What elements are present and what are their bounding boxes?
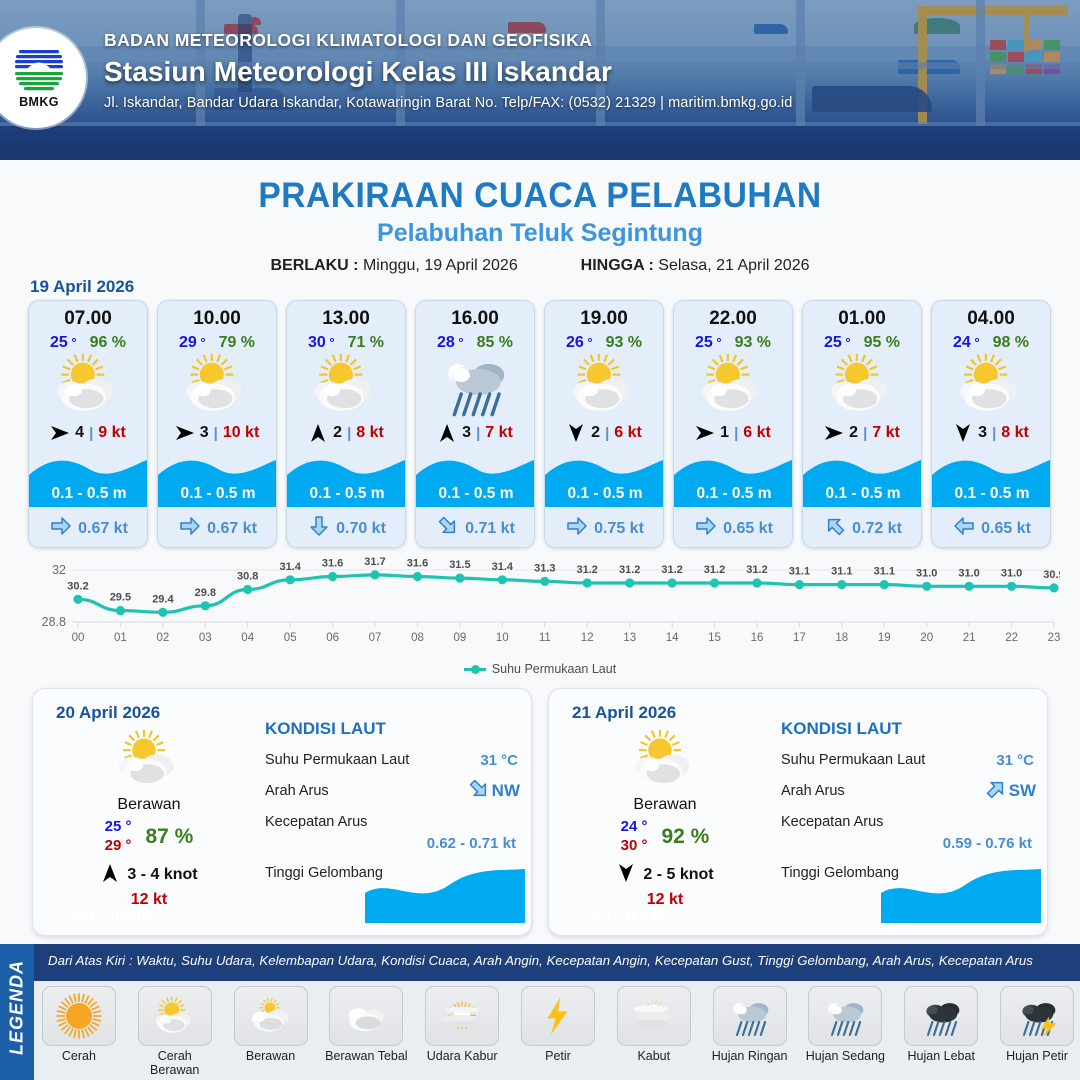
svg-text:11: 11 [539, 632, 551, 644]
current-direction-value-wrap: SW [985, 779, 1036, 803]
svg-text:00: 00 [72, 632, 85, 644]
card-current-row: 0.70 kt [287, 516, 406, 541]
card-wind-row: 3 | 7 kt [416, 421, 534, 445]
bmkg-logo-mark [13, 48, 65, 94]
svg-text:31.7: 31.7 [364, 556, 385, 568]
svg-text:16: 16 [751, 632, 764, 644]
panel-summary: Berawan 24 ° 30 ° 92 % 2 - 5 knot 12 kt [565, 729, 765, 909]
station-address: Jl. Iskandar, Bandar Udara Iskandar, Kot… [104, 95, 792, 111]
separator: | [734, 425, 738, 442]
panel-gust: 12 kt [565, 891, 765, 909]
daily-panel[interactable]: 20 April 2026 Berawan 25 ° 29 ° 87 % 3 -… [32, 688, 532, 936]
card-current-row: 0.71 kt [416, 516, 535, 541]
card-wind-row: 3 | 8 kt [932, 421, 1050, 445]
card-temperature: 30 ° [308, 334, 335, 352]
current-direction-label: Arah Arus [781, 783, 845, 799]
separator: | [476, 425, 480, 442]
wind-direction-icon [437, 423, 457, 443]
legend-item-icon [42, 986, 116, 1046]
panel-sea-conditions: KONDISI LAUT Suhu Permukaan Laut 31 °C A… [265, 719, 520, 883]
card-wind-speed: 3 [462, 424, 471, 442]
card-wind-speed: 4 [75, 424, 84, 442]
svg-text:03: 03 [199, 632, 212, 644]
svg-text:21: 21 [963, 632, 976, 644]
chart-legend-marker [464, 668, 486, 671]
svg-text:31.1: 31.1 [874, 566, 895, 578]
card-weather-icon [416, 354, 534, 416]
forecast-card-row: 07.00 25 ° 96 % 4 | 9 kt 0.1 - 0.5 m 0.6… [28, 300, 1051, 548]
current-direction-icon [695, 516, 717, 541]
svg-text:23: 23 [1048, 632, 1060, 644]
card-current-speed: 0.67 kt [207, 520, 257, 538]
wind-direction-icon [308, 423, 328, 443]
legend-item-label: Petir [515, 1049, 601, 1063]
current-direction-icon [308, 516, 330, 541]
card-weather-icon [158, 354, 276, 416]
card-current-speed: 0.65 kt [981, 520, 1031, 538]
legend-item[interactable]: Hujan Petir [994, 986, 1080, 1077]
current-direction-value: NW [492, 781, 520, 801]
card-temp-hum-row: 25 ° 96 % [29, 334, 147, 352]
card-wind-row: 3 | 10 kt [158, 421, 276, 445]
forecast-card[interactable]: 04.00 24 ° 98 % 3 | 8 kt 0.1 - 0.5 m 0.6… [931, 300, 1051, 548]
card-temp-hum-row: 26 ° 93 % [545, 334, 663, 352]
svg-text:28.8: 28.8 [42, 615, 66, 629]
svg-text:31.6: 31.6 [407, 558, 428, 570]
legend-item-icon [904, 986, 978, 1046]
legend-item-icon [329, 986, 403, 1046]
page-header: BMKG BADAN METEOROLOGI KLIMATOLOGI DAN G… [0, 0, 1080, 160]
card-temperature: 25 ° [695, 334, 722, 352]
card-gust: 9 kt [98, 424, 126, 442]
current-speed-label: Kecepatan Arus [781, 814, 883, 830]
card-humidity: 85 % [477, 334, 513, 352]
legend-item-icon [713, 986, 787, 1046]
forecast-card[interactable]: 07.00 25 ° 96 % 4 | 9 kt 0.1 - 0.5 m 0.6… [28, 300, 148, 548]
svg-text:18: 18 [835, 632, 848, 644]
svg-text:31.4: 31.4 [279, 561, 301, 573]
panel-gust: 12 kt [49, 891, 249, 909]
legend-item-icon [617, 986, 691, 1046]
legend-item[interactable]: Cerah [36, 986, 122, 1077]
svg-text:30.2: 30.2 [67, 580, 88, 592]
svg-text:31.6: 31.6 [322, 558, 343, 570]
valid-to-value: Selasa, 21 April 2026 [658, 257, 809, 274]
card-temperature: 28 ° [437, 334, 464, 352]
legend-side-tab: LEGENDA [0, 944, 34, 1080]
forecast-card[interactable]: 16.00 28 ° 85 % 3 | 7 kt 0.1 - 0.5 m 0.7… [415, 300, 535, 548]
legend-item-icon [138, 986, 212, 1046]
legend-item-icon [808, 986, 882, 1046]
card-current-speed: 0.75 kt [594, 520, 644, 538]
svg-text:29.5: 29.5 [110, 592, 131, 604]
card-current-row: 0.67 kt [158, 516, 277, 541]
forecast-card[interactable]: 22.00 25 ° 93 % 1 | 6 kt 0.1 - 0.5 m 0.6… [673, 300, 793, 548]
panel-condition: Berawan [565, 796, 765, 814]
card-wind-speed: 2 [849, 424, 858, 442]
card-wind-speed: 3 [978, 424, 987, 442]
card-current-row: 0.67 kt [29, 516, 148, 541]
svg-text:15: 15 [708, 632, 721, 644]
card-wind-speed: 1 [720, 424, 729, 442]
panel-temp-hum: 25 ° 29 ° 87 % [49, 818, 249, 856]
card-gust: 7 kt [872, 424, 900, 442]
card-weather-icon [674, 354, 792, 416]
card-weather-icon [803, 354, 921, 416]
card-current-speed: 0.65 kt [723, 520, 773, 538]
card-time: 19.00 [545, 308, 663, 330]
legend-note: Dari Atas Kiri : Waktu, Suhu Udara, Kele… [48, 953, 1033, 968]
separator: | [89, 425, 93, 442]
card-temperature: 25 ° [50, 334, 77, 352]
card-temperature: 24 ° [953, 334, 980, 352]
card-gust: 7 kt [485, 424, 513, 442]
panel-condition: Berawan [49, 796, 249, 814]
card-temp-hum-row: 24 ° 98 % [932, 334, 1050, 352]
card-wind-row: 2 | 8 kt [287, 421, 405, 445]
current-direction-row: Arah Arus NW [265, 783, 520, 801]
card-current-speed: 0.67 kt [78, 520, 128, 538]
card-wave-height: 0.1 - 0.5 m [29, 485, 148, 503]
legend-item-label: Cerah Berawan [132, 1049, 218, 1077]
card-weather-icon [287, 354, 405, 416]
svg-text:10: 10 [496, 632, 509, 644]
current-speed-label: Kecepatan Arus [265, 814, 367, 830]
card-time: 04.00 [932, 308, 1050, 330]
current-direction-label: Arah Arus [265, 783, 329, 799]
forecast-card[interactable]: 01.00 25 ° 95 % 2 | 7 kt 0.1 - 0.5 m 0.7… [802, 300, 922, 548]
svg-text:31.2: 31.2 [661, 564, 682, 576]
panel-wind-range: 2 - 5 knot [643, 866, 713, 884]
card-weather-icon [29, 354, 147, 416]
legend-item[interactable]: Berawan [228, 986, 314, 1077]
current-direction-icon [179, 516, 201, 541]
legend-item[interactable]: Kabut [611, 986, 697, 1077]
panel-humidity: 92 % [661, 825, 709, 849]
current-direction-icon [437, 516, 459, 541]
panel-humidity: 87 % [145, 825, 193, 849]
panel-temp-max: 30 ° [621, 837, 648, 856]
card-gust: 8 kt [1001, 424, 1029, 442]
card-temp-hum-row: 25 ° 93 % [674, 334, 792, 352]
svg-text:31.4: 31.4 [492, 561, 514, 573]
wind-direction-icon [175, 423, 195, 443]
card-gust: 10 kt [223, 424, 259, 442]
sst-chart-svg: 32 28.8 00 01 02 03 04 05 06 07 08 09 10… [20, 556, 1060, 656]
svg-text:32: 32 [52, 563, 66, 577]
card-humidity: 93 % [735, 334, 771, 352]
panel-wave-graphic [881, 867, 1041, 923]
legend-item[interactable]: Berawan Tebal [323, 986, 409, 1077]
svg-text:17: 17 [793, 632, 806, 644]
card-wind-row: 1 | 6 kt [674, 421, 792, 445]
current-direction-icon [985, 779, 1007, 803]
forecast-card[interactable]: 13.00 30 ° 71 % 2 | 8 kt 0.1 - 0.5 m 0.7… [286, 300, 406, 548]
svg-text:02: 02 [157, 632, 170, 644]
sea-conditions-title: KONDISI LAUT [265, 719, 520, 739]
panel-temp-col: 25 ° 29 ° [105, 818, 132, 856]
svg-text:08: 08 [411, 632, 424, 644]
card-humidity: 98 % [993, 334, 1029, 352]
current-direction-icon [824, 516, 846, 541]
svg-text:31.0: 31.0 [1001, 567, 1022, 579]
svg-text:22: 22 [1005, 632, 1018, 644]
card-wind-row: 2 | 6 kt [545, 421, 663, 445]
current-speed-row: Kecepatan Arus [265, 814, 520, 832]
panel-wind-row: 3 - 4 knot [49, 863, 249, 888]
current-direction-icon [50, 516, 72, 541]
card-current-row: 0.65 kt [932, 516, 1051, 541]
legend-item-label: Hujan Lebat [898, 1049, 984, 1063]
legend-item[interactable]: Cerah Berawan [132, 986, 218, 1077]
legend-item-label: Udara Kabur [419, 1049, 505, 1063]
current-direction-value-wrap: NW [468, 779, 520, 803]
card-temp-hum-row: 28 ° 85 % [416, 334, 534, 352]
current-speed-value: 0.59 - 0.76 kt [781, 835, 1036, 852]
card-wind-row: 2 | 7 kt [803, 421, 921, 445]
current-speed-row: Kecepatan Arus [781, 814, 1036, 832]
legend-item-label: Cerah [36, 1049, 122, 1063]
svg-text:05: 05 [284, 632, 297, 644]
card-time: 01.00 [803, 308, 921, 330]
legend-item-label: Berawan Tebal [323, 1049, 409, 1063]
legend-item-icon [425, 986, 499, 1046]
forecast-card[interactable]: 19.00 26 ° 93 % 2 | 6 kt 0.1 - 0.5 m 0.7… [544, 300, 664, 548]
separator: | [214, 425, 218, 442]
svg-text:31.1: 31.1 [831, 566, 852, 578]
card-humidity: 93 % [606, 334, 642, 352]
legend-item-icon [1000, 986, 1074, 1046]
card-current-speed: 0.72 kt [852, 520, 902, 538]
card-gust: 6 kt [614, 424, 642, 442]
forecast-card[interactable]: 10.00 29 ° 79 % 3 | 10 kt 0.1 - 0.5 m 0.… [157, 300, 277, 548]
separator: | [347, 425, 351, 442]
svg-text:04: 04 [241, 632, 254, 644]
svg-text:20: 20 [920, 632, 933, 644]
current-direction-row: Arah Arus SW [781, 783, 1036, 801]
legend-item[interactable]: Hujan Lebat [898, 986, 984, 1077]
daily-panel[interactable]: 21 April 2026 Berawan 24 ° 30 ° 92 % 2 -… [548, 688, 1048, 936]
title-block: PRAKIRAAN CUACA PELABUHAN Pelabuhan Telu… [0, 176, 1080, 275]
card-weather-icon [545, 354, 663, 416]
legend-item-label: Berawan [228, 1049, 314, 1063]
current-speed-value: 0.62 - 0.71 kt [265, 835, 520, 852]
sst-label: Suhu Permukaan Laut [781, 752, 925, 768]
wind-direction-icon [100, 863, 120, 888]
sst-row: Suhu Permukaan Laut 31 °C [265, 752, 520, 770]
panel-wave-value: 0.1 - 0.5 m [549, 908, 709, 926]
svg-text:13: 13 [623, 632, 636, 644]
card-gust: 6 kt [743, 424, 771, 442]
legend-item[interactable]: Hujan Sedang [803, 986, 889, 1077]
card-temperature: 25 ° [824, 334, 851, 352]
card-wave-height: 0.1 - 0.5 m [545, 485, 664, 503]
validity-line: BERLAKU : Minggu, 19 April 2026 HINGGA :… [0, 257, 1080, 275]
legend-item-icon [521, 986, 595, 1046]
panel-wave-graphic [365, 867, 525, 923]
sst-value: 31 °C [480, 752, 518, 769]
card-temp-hum-row: 30 ° 71 % [287, 334, 405, 352]
svg-text:30.8: 30.8 [237, 571, 258, 583]
card-wave-height: 0.1 - 0.5 m [287, 485, 406, 503]
svg-text:31.5: 31.5 [449, 559, 470, 571]
svg-text:31.0: 31.0 [916, 567, 937, 579]
current-direction-icon [566, 516, 588, 541]
svg-text:31.2: 31.2 [576, 564, 597, 576]
card-current-row: 0.65 kt [674, 516, 793, 541]
card-temp-hum-row: 25 ° 95 % [803, 334, 921, 352]
card-wind-speed: 3 [200, 424, 209, 442]
card-wave-height: 0.1 - 0.5 m [803, 485, 922, 503]
svg-text:30.9: 30.9 [1043, 569, 1060, 581]
card-wind-speed: 2 [333, 424, 342, 442]
wind-direction-icon [695, 423, 715, 443]
card-wave-height: 0.1 - 0.5 m [158, 485, 277, 503]
panel-weather-icon [49, 729, 249, 791]
card-current-row: 0.72 kt [803, 516, 922, 541]
panel-sea-conditions: KONDISI LAUT Suhu Permukaan Laut 31 °C A… [781, 719, 1036, 883]
card-weather-icon [932, 354, 1050, 416]
card-wave-height: 0.1 - 0.5 m [932, 485, 1051, 503]
legend-item[interactable]: Petir [515, 986, 601, 1077]
page-title: PRAKIRAAN CUACA PELABUHAN [22, 176, 1059, 216]
card-time: 10.00 [158, 308, 276, 330]
panel-wind-range: 3 - 4 knot [127, 866, 197, 884]
card-current-speed: 0.71 kt [465, 520, 515, 538]
card-wave-height: 0.1 - 0.5 m [416, 485, 535, 503]
sst-row: Suhu Permukaan Laut 31 °C [781, 752, 1036, 770]
panel-date: 20 April 2026 [56, 703, 160, 723]
forecast-date-label: 19 April 2026 [30, 277, 134, 297]
legend-item-label: Hujan Petir [994, 1049, 1080, 1063]
panel-temp-hum: 24 ° 30 ° 92 % [565, 818, 765, 856]
panel-temp-max: 29 ° [105, 837, 132, 856]
panel-date: 21 April 2026 [572, 703, 676, 723]
legend-item-row: Cerah Cerah Berawan Berawan Berawan Teba… [36, 986, 1080, 1077]
card-temp-hum-row: 29 ° 79 % [158, 334, 276, 352]
header-text-block: BADAN METEOROLOGI KLIMATOLOGI DAN GEOFIS… [104, 30, 792, 111]
svg-text:19: 19 [878, 632, 891, 644]
card-time: 16.00 [416, 308, 534, 330]
card-humidity: 95 % [864, 334, 900, 352]
current-direction-icon [468, 779, 490, 803]
separator: | [992, 425, 996, 442]
svg-text:31.2: 31.2 [746, 564, 767, 576]
daily-panel-row: 20 April 2026 Berawan 25 ° 29 ° 87 % 3 -… [32, 688, 1048, 936]
panel-temp-min: 24 ° [621, 818, 648, 837]
legend-item-label: Hujan Ringan [707, 1049, 793, 1063]
card-temperature: 26 ° [566, 334, 593, 352]
panel-wind-row: 2 - 5 knot [565, 863, 765, 888]
panel-temp-col: 24 ° 30 ° [621, 818, 648, 856]
panel-summary: Berawan 25 ° 29 ° 87 % 3 - 4 knot 12 kt [49, 729, 249, 909]
chart-legend-label: Suhu Permukaan Laut [492, 662, 616, 676]
card-time: 22.00 [674, 308, 792, 330]
panel-wave-value: 0.1 - 0.5 m [33, 908, 193, 926]
card-gust: 8 kt [356, 424, 384, 442]
card-current-row: 0.75 kt [545, 516, 664, 541]
svg-text:31.2: 31.2 [619, 564, 640, 576]
wind-direction-icon [616, 863, 636, 888]
station-name: Stasiun Meteorologi Kelas III Iskandar [104, 56, 792, 88]
svg-text:14: 14 [666, 632, 679, 644]
page-subtitle: Pelabuhan Teluk Segintung [0, 219, 1080, 248]
svg-text:09: 09 [454, 632, 467, 644]
svg-text:07: 07 [369, 632, 382, 644]
sea-conditions-title: KONDISI LAUT [781, 719, 1036, 739]
separator: | [605, 425, 609, 442]
legend-item-label: Kabut [611, 1049, 697, 1063]
svg-text:06: 06 [326, 632, 339, 644]
svg-text:01: 01 [114, 632, 127, 644]
card-wind-row: 4 | 9 kt [29, 421, 147, 445]
sst-label: Suhu Permukaan Laut [265, 752, 409, 768]
card-current-speed: 0.70 kt [336, 520, 386, 538]
legend-item[interactable]: Udara Kabur [419, 986, 505, 1077]
svg-text:31.3: 31.3 [534, 562, 555, 574]
valid-from-value: Minggu, 19 April 2026 [363, 257, 518, 274]
sst-chart: 32 28.8 00 01 02 03 04 05 06 07 08 09 10… [20, 556, 1060, 656]
chart-legend: Suhu Permukaan Laut [0, 662, 1080, 676]
panel-temp-min: 25 ° [105, 818, 132, 837]
legend-note-bar: Dari Atas Kiri : Waktu, Suhu Udara, Kele… [34, 944, 1080, 981]
wind-direction-icon [953, 423, 973, 443]
wind-direction-icon [824, 423, 844, 443]
svg-text:31.1: 31.1 [789, 566, 810, 578]
wind-direction-icon [50, 423, 70, 443]
card-wave-height: 0.1 - 0.5 m [674, 485, 793, 503]
current-direction-value: SW [1009, 781, 1036, 801]
card-wind-speed: 2 [591, 424, 600, 442]
separator: | [863, 425, 867, 442]
bmkg-logo-text: BMKG [19, 95, 59, 109]
agency-name: BADAN METEOROLOGI KLIMATOLOGI DAN GEOFIS… [104, 30, 792, 51]
panel-weather-icon [565, 729, 765, 791]
legend-item-icon [234, 986, 308, 1046]
card-humidity: 96 % [90, 334, 126, 352]
legend-item-label: Hujan Sedang [803, 1049, 889, 1063]
card-humidity: 79 % [219, 334, 255, 352]
valid-to-label: HINGGA : [581, 257, 654, 274]
wind-direction-icon [566, 423, 586, 443]
legend-item[interactable]: Hujan Ringan [707, 986, 793, 1077]
valid-from-label: BERLAKU : [271, 257, 359, 274]
legend-bar: LEGENDA Dari Atas Kiri : Waktu, Suhu Uda… [0, 944, 1080, 1080]
card-time: 13.00 [287, 308, 405, 330]
sst-value: 31 °C [996, 752, 1034, 769]
legend-side-label: LEGENDA [7, 948, 28, 1068]
svg-text:31.2: 31.2 [704, 564, 725, 576]
current-direction-icon [953, 516, 975, 541]
svg-text:12: 12 [581, 632, 594, 644]
card-humidity: 71 % [348, 334, 384, 352]
svg-text:29.8: 29.8 [195, 587, 216, 599]
card-time: 07.00 [29, 308, 147, 330]
svg-text:31.0: 31.0 [958, 567, 979, 579]
card-temperature: 29 ° [179, 334, 206, 352]
svg-text:29.4: 29.4 [152, 593, 174, 605]
